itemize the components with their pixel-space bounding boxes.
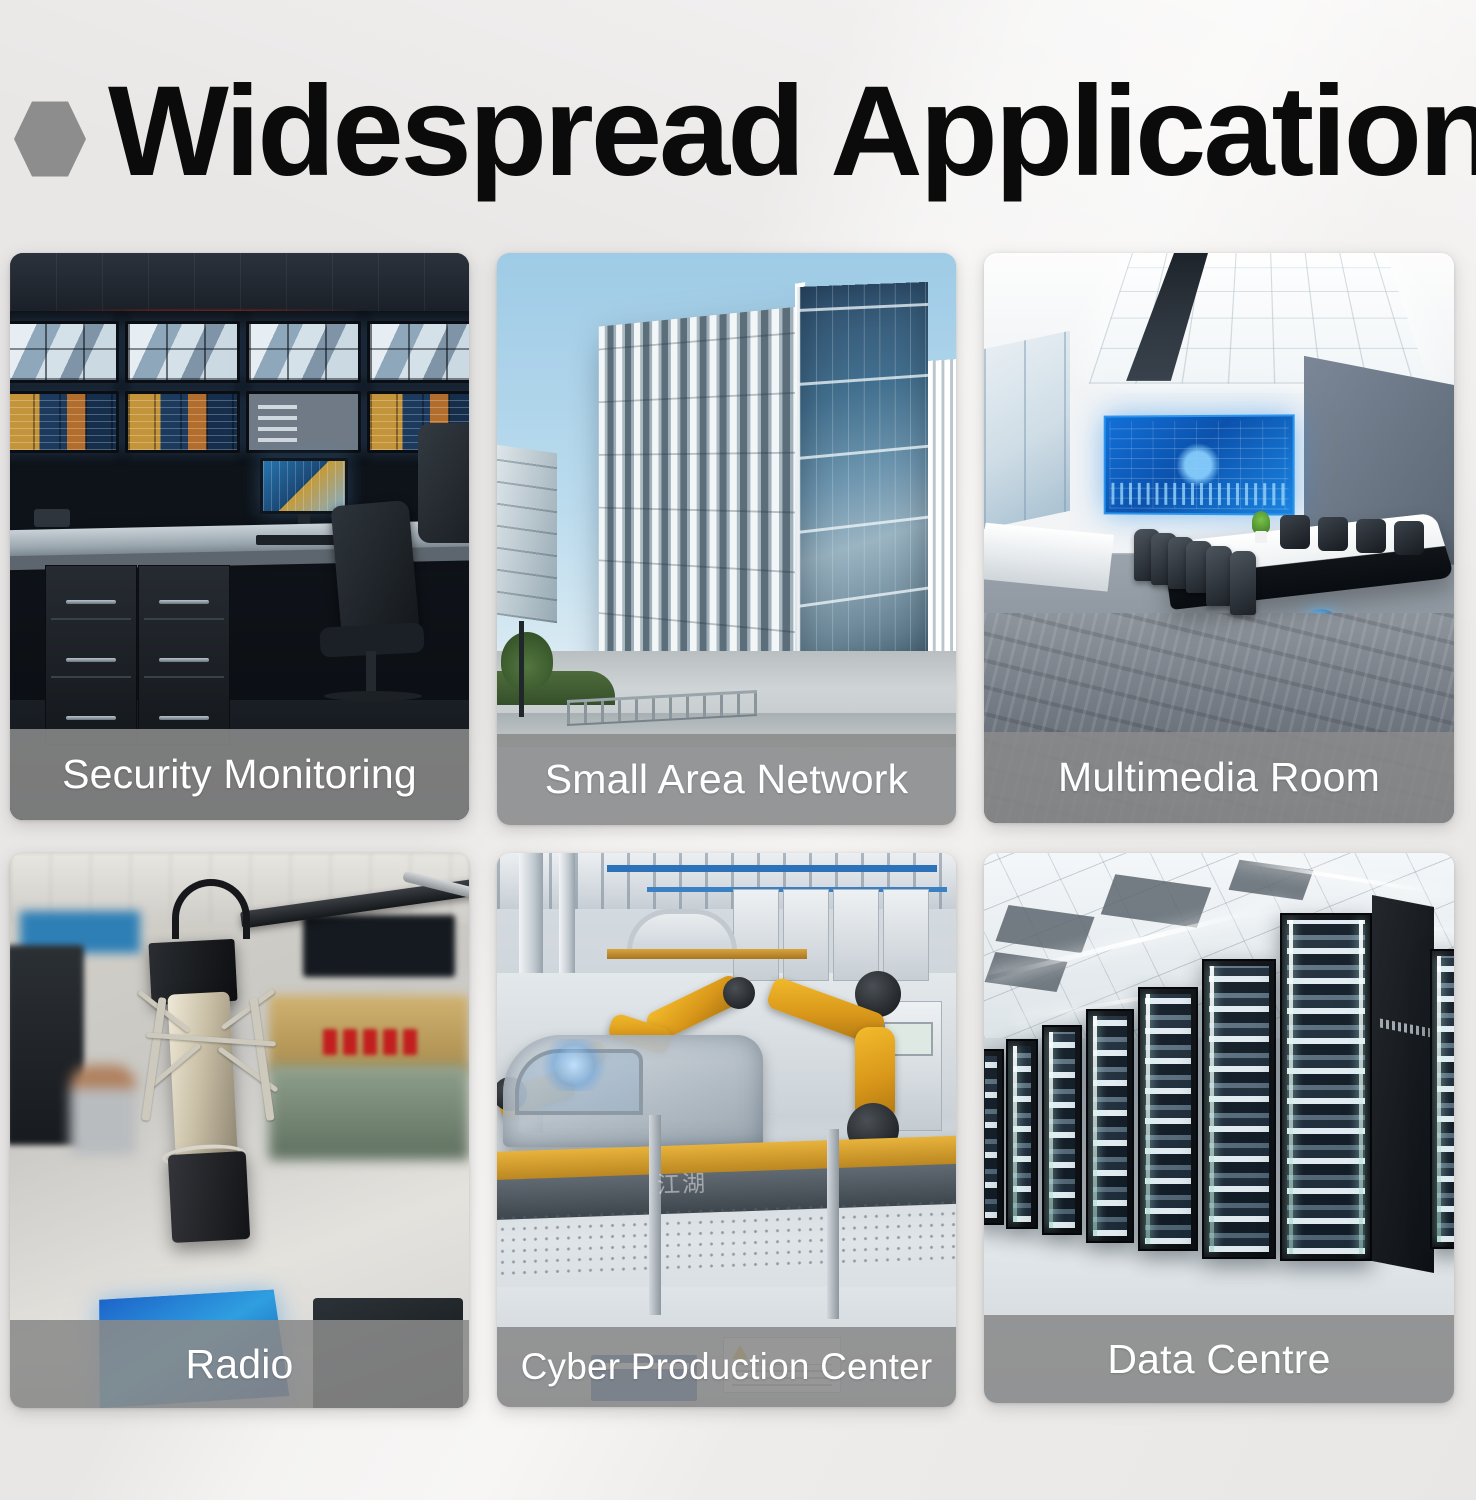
card-caption: Data Centre (984, 1315, 1454, 1403)
application-grid: Security Monitoring Small Area Network (0, 240, 1476, 1500)
application-card-small-area-network[interactable]: Small Area Network (497, 253, 956, 825)
card-caption: Radio (10, 1320, 469, 1408)
page-title: Widespread Application (108, 68, 1476, 196)
hexagon-icon (14, 100, 86, 178)
robotic-production-line-photo: 江湖 (497, 853, 956, 1407)
application-card-radio[interactable]: Radio (10, 853, 469, 1408)
card-caption: Small Area Network (497, 734, 956, 825)
card-caption: Security Monitoring (10, 729, 469, 820)
image-watermark: 江湖 (656, 1164, 707, 1200)
application-card-data-centre[interactable]: Data Centre (984, 853, 1454, 1403)
card-caption: Multimedia Room (984, 732, 1454, 823)
application-card-security-monitoring[interactable]: Security Monitoring (10, 253, 469, 820)
application-card-cyber-production-center[interactable]: 江湖 Cyber Production Center (497, 853, 956, 1407)
page-header: Widespread Application (0, 0, 1476, 240)
card-caption: Cyber Production Center (497, 1327, 956, 1407)
application-card-multimedia-room[interactable]: Multimedia Room (984, 253, 1454, 823)
